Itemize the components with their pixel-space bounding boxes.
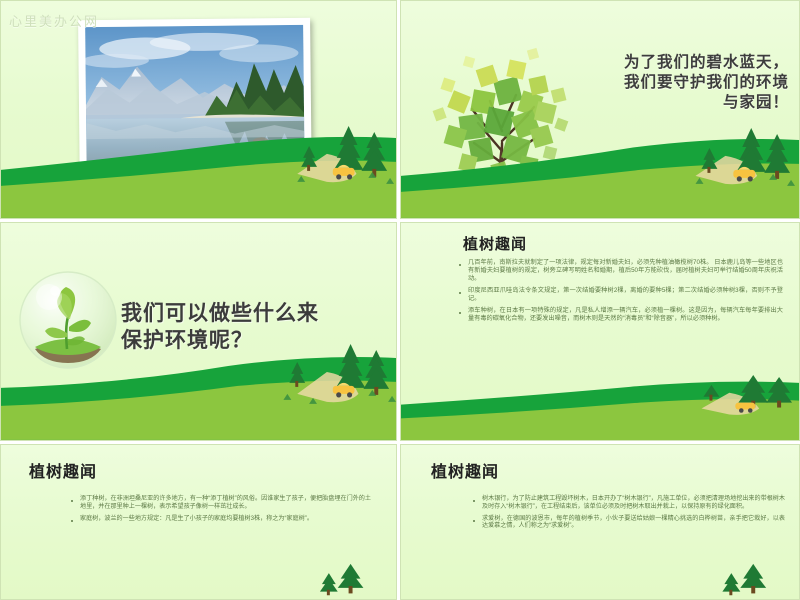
slide-5-title: 植树趣闻 [29,458,97,482]
watermark: 心里美办公网 [9,11,99,30]
slide-4-facts[interactable]: 植树趣闻 几百年前，南斯拉夫就制定了一项法律，规定每对新婚夫妇，必须先种植油橄榄… [400,222,800,441]
list-item: 印度尼西亚爪哇岛法令条文规定，第一次结婚要种树2棵，离婚的要种5棵；第二次结婚必… [459,287,783,303]
slide-background [401,223,799,440]
slide-6-title: 植树趣闻 [431,458,499,482]
slide-1-photo[interactable]: 心里美办公网 [0,0,397,219]
mountain-lake-photograph [85,25,305,191]
list-item: 家庭树，波兰的一些地方规定：凡是生了小孩子的家庭均要植树3株，称之为“家庭树”。 [71,515,371,523]
list-item: 几百年前，南斯拉夫就制定了一项法律，规定每对新婚夫妇，必须先种植油橄榄树70株。… [459,259,783,283]
list-item: 树木银行，为了防止建筑工程毁坏树木，日本开办了“树木银行”，凡施工单位，必须把清… [473,495,785,511]
slide-5-bullet-list: 添丁种树，在非洲坦桑尼亚的许多地方，有一种“添丁植树”的风俗。因谁家生了孩子，便… [71,495,371,526]
slide-6-bullet-list: 树木银行，为了防止建筑工程毁坏树木，日本开办了“树木银行”，凡施工单位，必须把清… [473,495,785,534]
slide-4-bullet-list: 几百年前，南斯拉夫就制定了一项法律，规定每对新婚夫妇，必须先种植油橄榄树70株。… [459,259,783,327]
slide-3-question[interactable]: 我们可以做些什么来 保护环境呢？ [0,222,397,441]
photo-frame [78,18,312,198]
square-leaf-tree-illustration [416,23,586,208]
slide-thumbnail-grid: 心里美办公网 [0,0,800,600]
slide-3-headline: 我们可以做些什么来 保护环境呢？ [121,301,319,355]
slide-6-facts[interactable]: 植树趣闻 树木银行，为了防止建筑工程毁坏树木，日本开办了“树木银行”，凡施工单位… [400,444,800,600]
list-item: 求爱树，在德国的波恩市，每年的植树季节，小伙子要送给姑娘一棵精心挑选的白桦树苗，… [473,515,785,531]
slide-5-facts[interactable]: 植树趣闻 添丁种树，在非洲坦桑尼亚的许多地方，有一种“添丁植树”的风俗。因谁家生… [0,444,397,600]
list-item: 添车种树，在日本有一项特殊的规定，凡是私人增添一辆汽车，必须植一棵树。这是因为，… [459,307,783,323]
slide-2-headline: 为了我们的碧水蓝天， 我们要守护我们的环境 与家园！ [624,53,789,112]
slide-4-title: 植树趣闻 [463,233,527,254]
list-item: 添丁种树，在非洲坦桑尼亚的许多地方，有一种“添丁植树”的风俗。因谁家生了孩子，便… [71,495,371,511]
seedling-in-glass-bubble [15,267,121,373]
slide-2-tree-slogan[interactable]: 为了我们的碧水蓝天， 我们要守护我们的环境 与家园！ [400,0,800,219]
